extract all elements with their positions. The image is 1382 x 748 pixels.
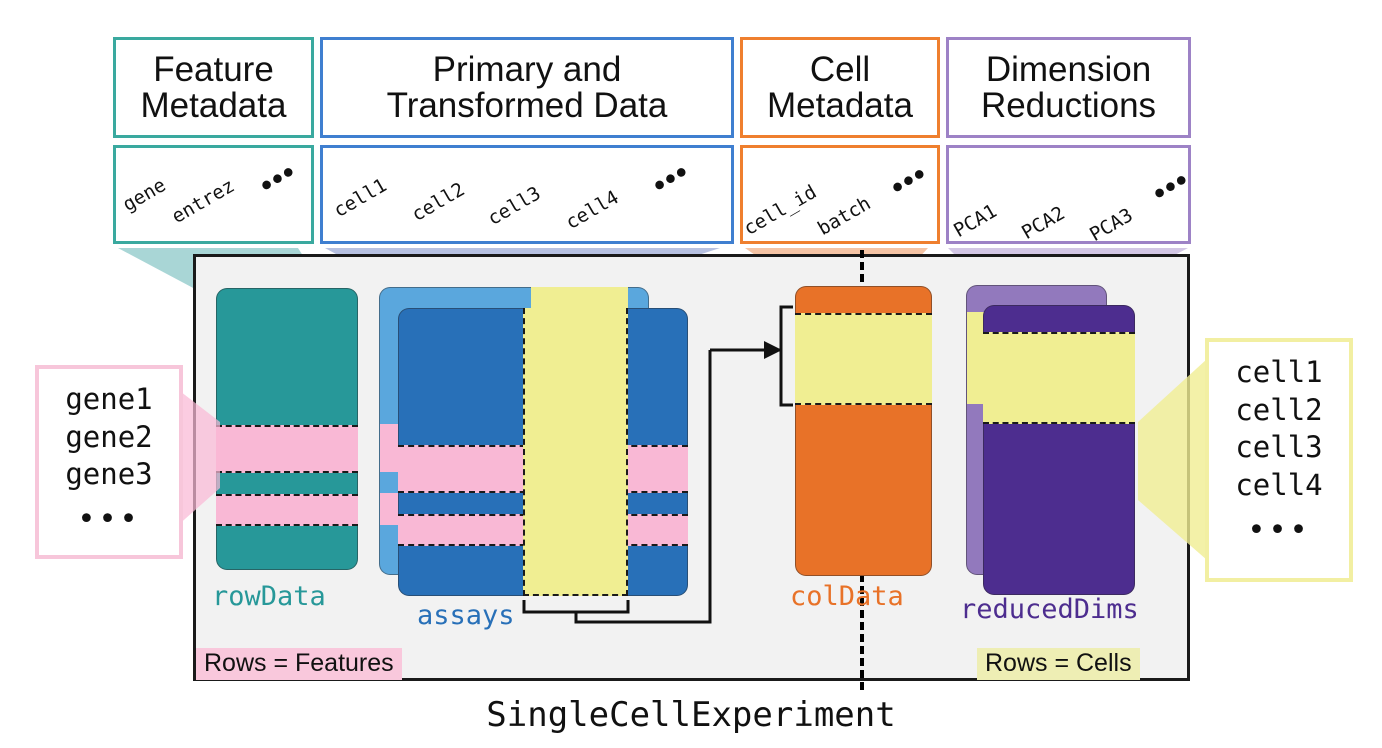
field-ellipsis-dimred: •••	[1147, 163, 1191, 211]
block-label-coldata: colData	[790, 581, 904, 612]
cell-line-2: cell2	[1209, 392, 1349, 430]
category-title-text: Dimension Reductions	[981, 52, 1156, 123]
block-label-rowdata: rowData	[212, 581, 326, 612]
field-ellipsis-cellmeta: •••	[885, 157, 934, 205]
field-cell1: cell1	[330, 174, 391, 222]
category-title-cell-metadata: Cell Metadata	[740, 37, 940, 138]
gene-list-box: gene1 gene2 gene3 •••	[35, 365, 183, 559]
field-cell-id: cell_id	[740, 181, 820, 240]
field-cell2: cell2	[408, 178, 469, 226]
category-fields-feature-metadata: gene entrez •••	[113, 145, 314, 244]
field-pca3: PCA3	[1086, 204, 1137, 244]
coldata-row-bracket	[775, 305, 805, 415]
block-coldata[interactable]	[795, 286, 932, 576]
field-pca2: PCA2	[1018, 202, 1069, 244]
field-gene: gene	[119, 174, 170, 216]
diagram-canvas: Feature Metadata gene entrez ••• Primary…	[0, 0, 1382, 748]
category-title-primary-transformed-data: Primary and Transformed Data	[320, 37, 734, 138]
cell-ellipsis: •••	[1209, 511, 1349, 550]
coldata-cell-band	[795, 313, 932, 405]
field-cell4: cell4	[562, 186, 623, 234]
field-batch: batch	[814, 192, 875, 240]
category-fields-primary-transformed-data: cell1 cell2 cell3 cell4 •••	[320, 145, 734, 244]
category-title-text: Feature Metadata	[141, 52, 287, 123]
cell-line-3: cell3	[1209, 429, 1349, 467]
field-pca1: PCA1	[950, 200, 1001, 242]
block-label-assays: assays	[417, 600, 515, 631]
gene-line-1: gene1	[39, 381, 179, 419]
category-title-dimension-reductions: Dimension Reductions	[946, 37, 1191, 138]
cell-line-4: cell4	[1209, 467, 1349, 505]
field-ellipsis-feature: •••	[254, 155, 303, 203]
field-cell3: cell3	[484, 182, 545, 230]
gene-line-3: gene3	[39, 456, 179, 494]
category-fields-dimension-reductions: PCA1 PCA2 PCA3 •••	[946, 145, 1191, 244]
cell-line-1: cell1	[1209, 354, 1349, 392]
field-entrez: entrez	[168, 175, 238, 228]
tag-rows-cells: Rows = Cells	[977, 648, 1140, 680]
gene-ellipsis: •••	[39, 500, 179, 539]
cell-list-box: cell1 cell2 cell3 cell4 •••	[1205, 338, 1353, 582]
category-title-text: Cell Metadata	[767, 52, 913, 123]
gene-line-2: gene2	[39, 419, 179, 457]
category-fields-cell-metadata: cell_id batch •••	[740, 145, 940, 244]
category-title-text: Primary and Transformed Data	[387, 52, 668, 123]
category-title-feature-metadata: Feature Metadata	[113, 37, 314, 138]
block-reduceddims-front[interactable]	[983, 305, 1135, 595]
block-label-reduceddims: reducedDims	[960, 594, 1139, 625]
tag-rows-features: Rows = Features	[196, 648, 402, 680]
reduceddims-cell-band	[983, 332, 1135, 424]
field-ellipsis-primary: •••	[647, 155, 696, 203]
page-title: SingleCellExperiment	[0, 695, 1382, 735]
